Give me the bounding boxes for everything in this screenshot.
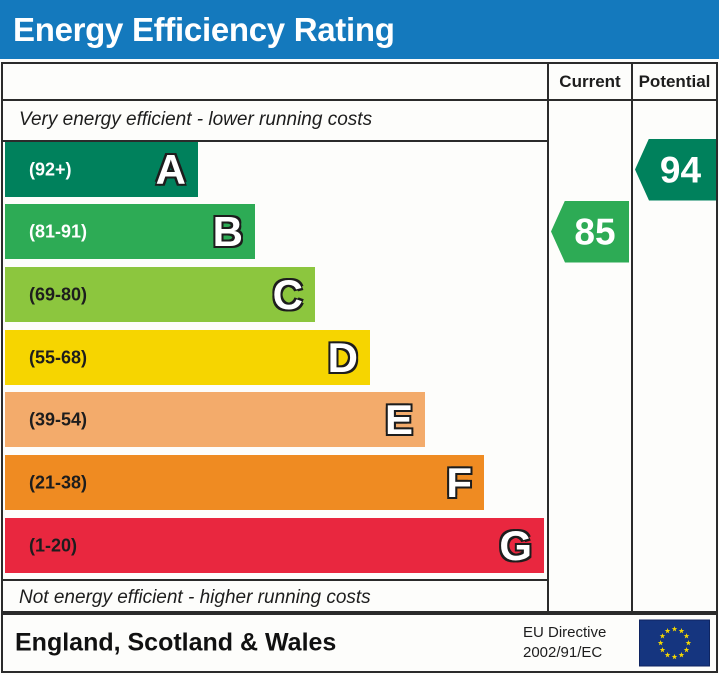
- eu-star: [672, 626, 678, 631]
- band-list: (92+)A(81-91)B(69-80)C(55-68)D(39-54)E(2…: [5, 142, 547, 579]
- eu-star: [658, 640, 664, 645]
- band-range-b: (81-91): [29, 221, 87, 242]
- caption-not-efficient: Not energy efficient - higher running co…: [19, 587, 371, 609]
- band-row-c: (69-80)C: [5, 267, 315, 322]
- eu-star: [679, 628, 685, 633]
- band-range-g: (1-20): [29, 535, 77, 556]
- band-range-d: (55-68): [29, 347, 87, 368]
- eu-star: [660, 633, 666, 638]
- band-range-c: (69-80): [29, 284, 87, 305]
- column-divider-potential: [631, 64, 633, 611]
- potential-rating-value: 94: [649, 151, 712, 188]
- band-row-a: (92+)A: [5, 142, 198, 197]
- eu-star: [684, 647, 690, 652]
- footer-bar: England, Scotland & Wales EU Directive 2…: [1, 613, 718, 673]
- eu-star: [672, 654, 678, 659]
- band-letter-e: E: [385, 399, 413, 441]
- energy-efficiency-certificate: Energy Efficiency Rating Current Potenti…: [0, 0, 719, 675]
- potential-rating-arrow: 94: [635, 139, 716, 201]
- band-letter-f: F: [446, 462, 472, 504]
- page-title: Energy Efficiency Rating: [13, 11, 395, 49]
- current-rating-arrow: 85: [551, 201, 629, 263]
- eu-star: [665, 652, 671, 657]
- rating-table: Current Potential Very energy efficient …: [1, 62, 718, 613]
- band-letter-a: A: [156, 149, 186, 191]
- column-header-current: Current: [549, 64, 631, 99]
- eu-star: [686, 640, 692, 645]
- band-range-e: (39-54): [29, 409, 87, 430]
- eu-flag-icon: [639, 620, 710, 667]
- band-letter-g: G: [499, 525, 532, 567]
- band-row-e: (39-54)E: [5, 392, 425, 447]
- eu-star: [660, 647, 666, 652]
- footer-directive-line1: EU Directive: [523, 623, 606, 643]
- caption-very-efficient: Very energy efficient - lower running co…: [19, 109, 372, 131]
- band-range-f: (21-38): [29, 472, 87, 493]
- eu-star: [684, 633, 690, 638]
- band-row-g: (1-20)G: [5, 518, 544, 573]
- eu-stars-icon: [640, 621, 709, 666]
- band-letter-c: C: [273, 274, 303, 316]
- caption-divider-bottom: [3, 579, 547, 581]
- eu-star: [679, 652, 685, 657]
- band-row-b: (81-91)B: [5, 204, 255, 259]
- column-divider-current: [547, 64, 549, 611]
- eu-star: [665, 628, 671, 633]
- band-letter-b: B: [213, 211, 243, 253]
- current-rating-value: 85: [565, 213, 625, 250]
- band-row-f: (21-38)F: [5, 455, 484, 510]
- footer-directive: EU Directive 2002/91/EC: [523, 623, 606, 664]
- column-header-potential: Potential: [633, 64, 716, 99]
- footer-directive-line2: 2002/91/EC: [523, 643, 606, 663]
- footer-region-label: England, Scotland & Wales: [15, 629, 336, 658]
- band-letter-d: D: [328, 337, 358, 379]
- title-bar: Energy Efficiency Rating: [0, 0, 719, 59]
- band-row-d: (55-68)D: [5, 330, 370, 385]
- band-range-a: (92+): [29, 159, 72, 180]
